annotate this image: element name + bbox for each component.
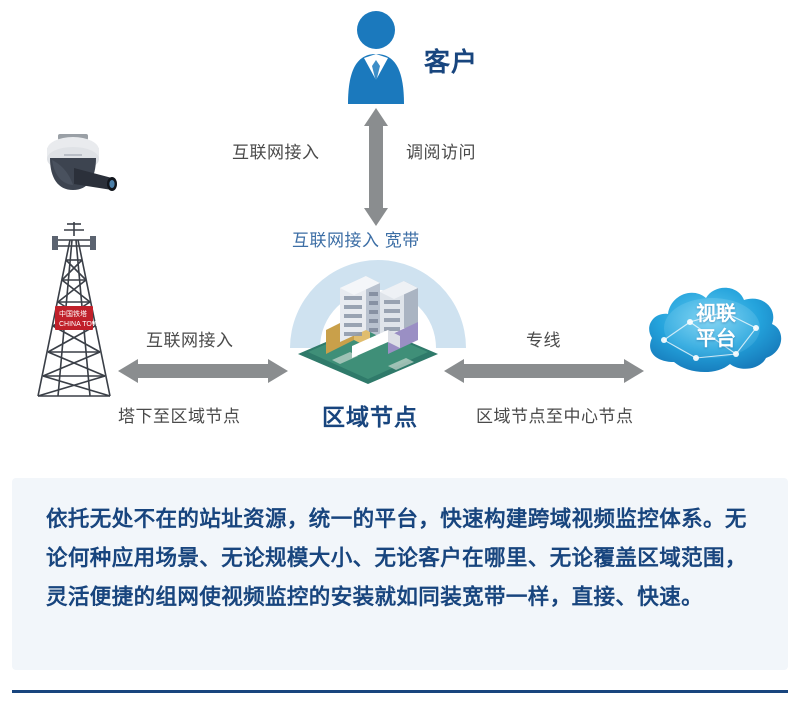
double-arrow-vertical-icon <box>363 108 389 226</box>
communication-tower-icon: 中国铁塔 CHINA TOWER <box>18 220 130 400</box>
cloud-label-line2: 平台 <box>696 328 736 350</box>
label-retrieve-access: 调阅访问 <box>406 138 476 163</box>
office-building-icon <box>292 262 444 384</box>
diagram-canvas: 客户 互联网接入 调阅访问 互联网接入 宽带 <box>0 0 800 701</box>
svg-text:中国铁塔: 中国铁塔 <box>59 309 87 318</box>
cloud-label-line1: 视联 <box>696 303 736 325</box>
label-internet-access-left: 互联网接入 <box>146 326 234 351</box>
bottom-divider <box>12 690 788 693</box>
label-dedicated-line: 专线 <box>526 326 561 351</box>
svg-text:CHINA TOWER: CHINA TOWER <box>59 321 108 328</box>
person-icon <box>346 8 406 104</box>
node-label-region: 区域节点 <box>322 398 418 432</box>
summary-paragraph: 依托无处不在的站址资源，统一的平台，快速构建跨域视频监控体系。无论何种应用场景、… <box>46 500 758 617</box>
double-arrow-horizontal-icon-left <box>118 358 288 384</box>
label-tower-to-region: 塔下至区域节点 <box>118 402 241 427</box>
label-internet-access-top: 互联网接入 <box>232 138 320 163</box>
cloud-label: 视联 平台 <box>676 302 756 352</box>
label-internet-broadband: 互联网接入 宽带 <box>292 226 420 251</box>
summary-panel: 依托无处不在的站址资源，统一的平台，快速构建跨域视频监控体系。无论何种应用场景、… <box>12 478 788 670</box>
label-region-to-center: 区域节点至中心节点 <box>476 402 634 427</box>
double-arrow-horizontal-icon-right <box>444 358 644 384</box>
ptz-camera-icon <box>34 134 120 206</box>
node-label-customer: 客户 <box>424 42 478 79</box>
